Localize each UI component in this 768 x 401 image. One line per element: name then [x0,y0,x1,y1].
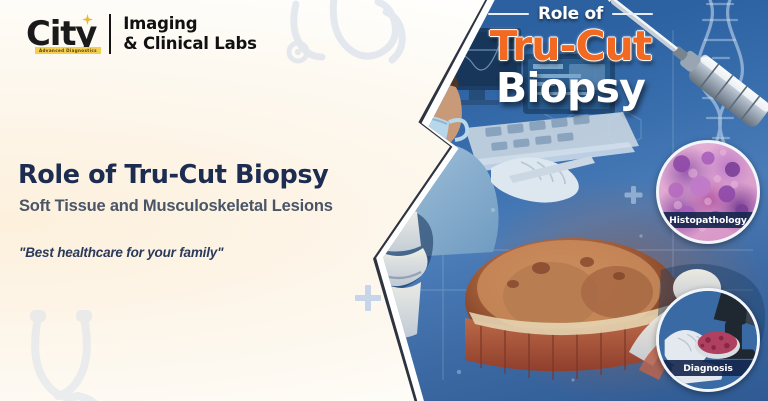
badge-label: Diagnosis [659,360,757,376]
page-subtitle: Soft Tissue and Musculoskeletal Lesions [19,197,333,216]
hero-title-primary: Tru-Cut [373,26,768,68]
sparkle-icon [82,14,93,25]
brand-logo[interactable]: City Advanced Diagnostics Imaging & Clin… [26,14,257,54]
page-title: Role of Tru-Cut Biopsy [18,161,328,189]
logo-subbrand: Imaging & Clinical Labs [123,14,257,54]
stethoscope-icon [268,0,438,120]
hero-eyebrow: Role of [538,4,603,24]
badge-histopathology[interactable]: Histopathology [656,140,760,244]
stethoscope-icon [8,300,178,401]
brand-quote: "Best healthcare for your family" [19,245,223,260]
logo-tagline: Advanced Diagnostics [35,47,101,54]
logo-brand-block: City Advanced Diagnostics [26,17,109,51]
logo-subbrand-line2: & Clinical Labs [123,34,257,54]
eyebrow-rule-left [488,13,529,16]
hero-title-group: Role of Tru-Cut Biopsy [373,4,768,110]
logo-divider [109,14,111,54]
logo-subbrand-line1: Imaging [123,14,257,34]
eyebrow-rule-right [612,13,653,16]
marketing-banner: City Advanced Diagnostics Imaging & Clin… [0,0,768,401]
badge-diagnosis[interactable]: Diagnosis [656,288,760,392]
hero-eyebrow-row: Role of [373,4,768,24]
plus-icon [355,285,381,311]
badge-label: Histopathology [659,212,757,228]
